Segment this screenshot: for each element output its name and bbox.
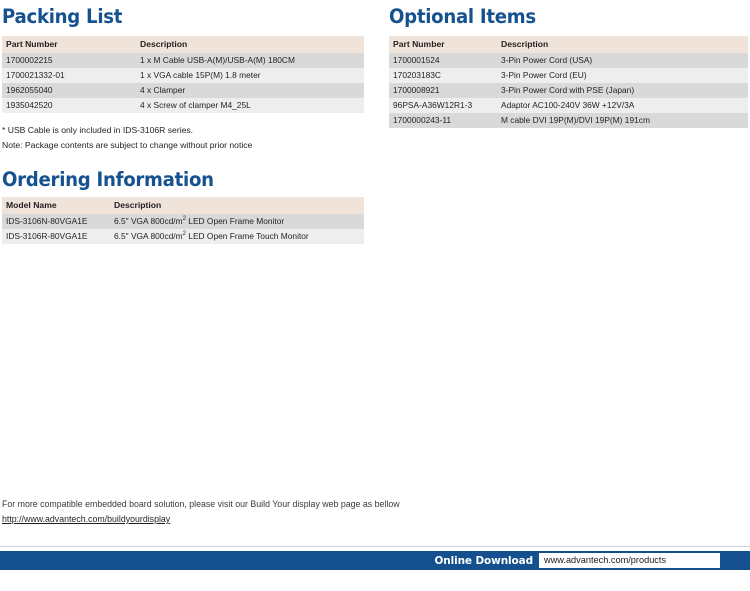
table-row: 1700000243-11 M cable DVI 19P(M)/DVI 19P… [389, 113, 748, 128]
table-row: 170203183C 3-Pin Power Cord (EU) [389, 68, 748, 83]
cell-part-number: 1962055040 [2, 83, 136, 98]
cell-description: 3-Pin Power Cord with PSE (Japan) [497, 83, 748, 98]
table-row: 1962055040 4 x Clamper [2, 83, 364, 98]
cell-description: 1 x VGA cable 15P(M) 1.8 meter [136, 68, 364, 83]
table-row: 1700008921 3-Pin Power Cord with PSE (Ja… [389, 83, 748, 98]
cell-model-name: IDS-3106R-80VGA1E [2, 229, 110, 244]
datasheet-page: Packing List Part Number Description 170… [0, 0, 750, 591]
cell-description: Adaptor AC100-240V 36W +12V/3A [497, 98, 748, 113]
table-row: 1700021332-01 1 x VGA cable 15P(M) 1.8 m… [2, 68, 364, 83]
ordering-information-heading: Ordering Information [2, 168, 214, 192]
table-header-row: Part Number Description [389, 36, 748, 53]
cell-description: 4 x Screw of clamper M4_25L [136, 98, 364, 113]
cell-description: 4 x Clamper [136, 83, 364, 98]
cell-part-number: 1700021332-01 [2, 68, 136, 83]
table-row: 1700002215 1 x M Cable USB-A(M)/USB-A(M)… [2, 53, 364, 68]
table-row: IDS-3106R-80VGA1E 6.5" VGA 800cd/m2 LED … [2, 229, 364, 244]
optional-items-heading: Optional Items [389, 5, 536, 29]
optional-items-table: Part Number Description 1700001524 3-Pin… [389, 36, 748, 128]
cell-part-number: 1700002215 [2, 53, 136, 68]
cell-description: 3-Pin Power Cord (USA) [497, 53, 748, 68]
cell-part-number: 1700001524 [389, 53, 497, 68]
online-download-url-field[interactable]: www.advantech.com/products [539, 553, 720, 568]
online-download-label: Online Download [435, 554, 539, 567]
table-row: 96PSA-A36W12R1-3 Adaptor AC100-240V 36W … [389, 98, 748, 113]
column-header-description: Description [110, 197, 364, 214]
cell-model-name: IDS-3106N-80VGA1E [2, 214, 110, 229]
packing-list-table: Part Number Description 1700002215 1 x M… [2, 36, 364, 113]
packing-list-note-contents: Note: Package contents are subject to ch… [2, 139, 252, 151]
online-download-url-text: www.advantech.com/products [544, 555, 666, 566]
online-download-bar: Online Download www.advantech.com/produc… [0, 551, 750, 570]
cell-description: 3-Pin Power Cord (EU) [497, 68, 748, 83]
column-header-description: Description [136, 36, 364, 53]
cell-part-number: 170203183C [389, 68, 497, 83]
footer-promo-text: For more compatible embedded board solut… [2, 498, 400, 511]
table-header-row: Model Name Description [2, 197, 364, 214]
cell-description: 6.5" VGA 800cd/m2 LED Open Frame Touch M… [110, 229, 364, 244]
cell-description: M cable DVI 19P(M)/DVI 19P(M) 191cm [497, 113, 748, 128]
column-header-part-number: Part Number [389, 36, 497, 53]
table-row: 1700001524 3-Pin Power Cord (USA) [389, 53, 748, 68]
column-header-part-number: Part Number [2, 36, 136, 53]
cell-description: 1 x M Cable USB-A(M)/USB-A(M) 180CM [136, 53, 364, 68]
packing-list-note-usb-cable: * USB Cable is only included in IDS-3106… [2, 124, 193, 136]
packing-list-heading: Packing List [2, 5, 122, 29]
table-header-row: Part Number Description [2, 36, 364, 53]
column-header-description: Description [497, 36, 748, 53]
table-row: 1935042520 4 x Screw of clamper M4_25L [2, 98, 364, 113]
cell-description: 6.5" VGA 800cd/m2 LED Open Frame Monitor [110, 214, 364, 229]
ordering-information-table: Model Name Description IDS-3106N-80VGA1E… [2, 197, 364, 244]
footer-promo-link[interactable]: http://www.advantech.com/buildyourdispla… [2, 513, 170, 526]
column-header-model-name: Model Name [2, 197, 110, 214]
cell-part-number: 1700000243-11 [389, 113, 497, 128]
footer-divider [0, 546, 750, 547]
cell-part-number: 1700008921 [389, 83, 497, 98]
cell-part-number: 1935042520 [2, 98, 136, 113]
table-row: IDS-3106N-80VGA1E 6.5" VGA 800cd/m2 LED … [2, 214, 364, 229]
cell-part-number: 96PSA-A36W12R1-3 [389, 98, 497, 113]
